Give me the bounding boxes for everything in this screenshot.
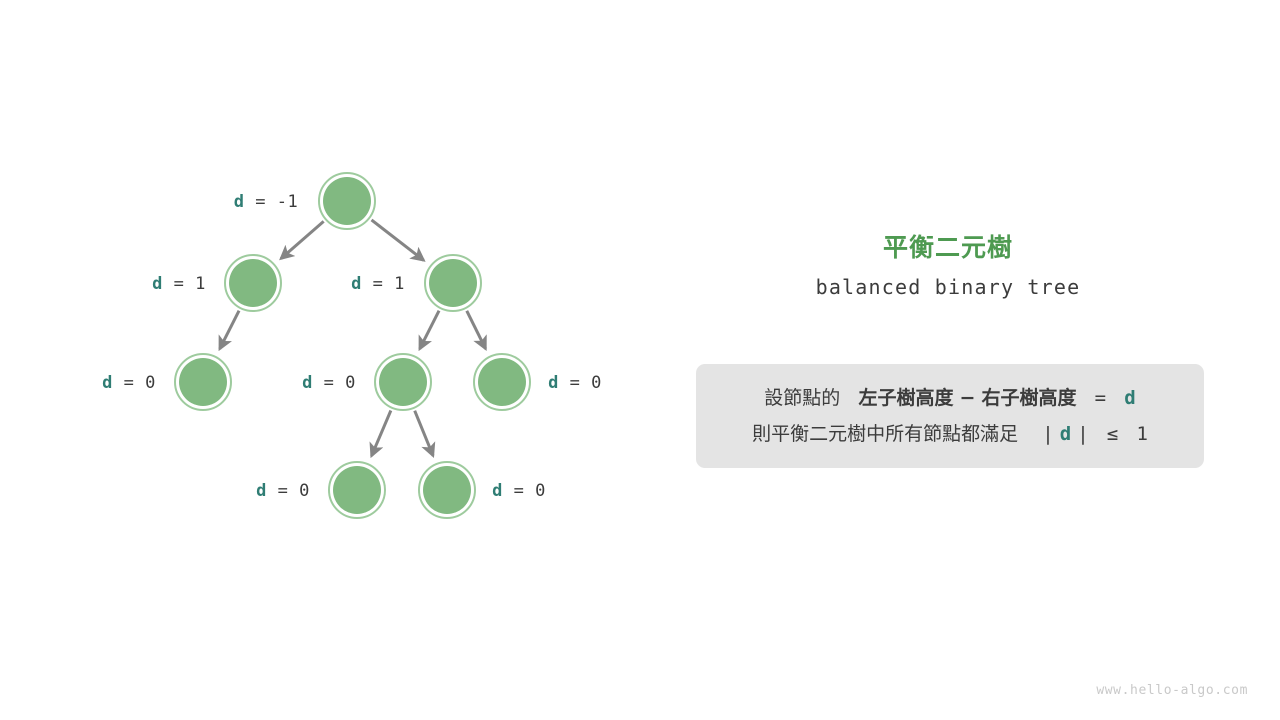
tree-edge (372, 220, 424, 260)
tree-node-layer (175, 173, 530, 518)
definition-variable-d-abs: d (1060, 423, 1071, 445)
less-equal-operator: ≤ (1107, 423, 1118, 445)
node-disc (229, 259, 277, 307)
info-panel: 平衡二元樹 balanced binary tree 設節點的 左子樹高度 − … (660, 0, 1280, 720)
label-value: = -1 (245, 192, 299, 212)
tree-edge (420, 311, 439, 349)
label-variable: d (234, 192, 245, 212)
tree-svg-canvas (0, 0, 660, 720)
definition-line-1: 設節點的 左子樹高度 − 右子樹高度 = d (696, 380, 1204, 416)
label-variable: d (302, 373, 313, 393)
node-disc (333, 466, 381, 514)
label-variable: d (256, 481, 267, 501)
site-watermark: www.hello-algo.com (1096, 683, 1248, 698)
label-variable: d (152, 274, 163, 294)
definition-minus-sign: − (960, 387, 976, 409)
abs-bar-close: | (1077, 423, 1088, 445)
node-balance-factor-label: d = 0 (302, 373, 356, 393)
panel-title: 平衡二元樹 (660, 228, 1236, 264)
binary-tree-diagram: d = -1d = 1d = 1d = 0d = 0d = 0d = 0d = … (0, 0, 660, 720)
node-balance-factor-label: d = 1 (351, 274, 405, 294)
label-value: = 0 (313, 373, 356, 393)
node-disc (323, 177, 371, 225)
node-disc (379, 358, 427, 406)
node-balance-factor-label: d = 0 (102, 373, 156, 393)
tree-node[interactable] (319, 173, 375, 229)
definition-left-height: 左子樹高度 (858, 387, 953, 409)
balance-bound-value: 1 (1136, 423, 1147, 445)
node-balance-factor-label: d = 0 (256, 481, 310, 501)
node-balance-factor-label: d = 0 (492, 481, 546, 501)
abs-bar-open: | (1042, 423, 1053, 445)
definition-variable-d: d (1124, 387, 1135, 409)
tree-node[interactable] (329, 462, 385, 518)
node-balance-factor-label: d = 0 (548, 373, 602, 393)
tree-node[interactable] (425, 255, 481, 311)
tree-edge (281, 221, 324, 258)
label-value: = 0 (267, 481, 310, 501)
definition-equals-sign: = (1095, 387, 1106, 409)
tree-edge (467, 311, 486, 349)
label-value: = 1 (163, 274, 206, 294)
node-disc (429, 259, 477, 307)
tree-edge (220, 311, 239, 349)
tree-edge (371, 411, 390, 456)
node-disc (179, 358, 227, 406)
tree-node[interactable] (375, 354, 431, 410)
label-value: = 0 (113, 373, 156, 393)
tree-node[interactable] (474, 354, 530, 410)
definition-box: 設節點的 左子樹高度 − 右子樹高度 = d 則平衡二元樹中所有節點都滿足 | … (696, 364, 1204, 468)
label-value: = 0 (559, 373, 602, 393)
label-variable: d (102, 373, 113, 393)
definition-line-2: 則平衡二元樹中所有節點都滿足 | d | ≤ 1 (696, 416, 1204, 452)
tree-edge (415, 411, 433, 456)
panel-subtitle: balanced binary tree (660, 275, 1236, 299)
definition-right-height: 右子樹高度 (981, 387, 1076, 409)
node-balance-factor-label: d = 1 (152, 274, 206, 294)
tree-node[interactable] (225, 255, 281, 311)
label-variable: d (351, 274, 362, 294)
label-value: = 0 (503, 481, 546, 501)
label-variable: d (492, 481, 503, 501)
node-disc (478, 358, 526, 406)
label-value: = 1 (362, 274, 405, 294)
tree-node[interactable] (419, 462, 475, 518)
node-disc (423, 466, 471, 514)
definition-condition-text: 則平衡二元樹中所有節點都滿足 (752, 423, 1018, 445)
definition-prefix: 設節點的 (764, 387, 840, 409)
node-balance-factor-label: d = -1 (234, 192, 298, 212)
tree-node[interactable] (175, 354, 231, 410)
label-variable: d (548, 373, 559, 393)
